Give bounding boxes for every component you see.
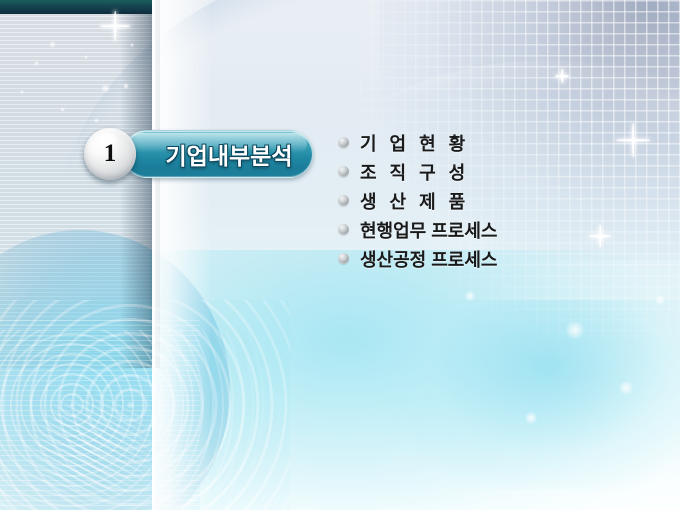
section-title-text: 기업내부분석 (124, 131, 312, 177)
list-item-label: 생산공정 프로세스 (360, 246, 497, 272)
turbine-swirl-decoration (0, 300, 290, 510)
list-item[interactable]: 생 산 제 품 (338, 186, 638, 215)
list-item[interactable]: 조 직 구 성 (338, 157, 638, 186)
bullet-sphere-icon (338, 195, 349, 206)
dark-blue-panel (0, 0, 152, 368)
list-item[interactable]: 현행업무 프로세스 (338, 215, 638, 244)
cable-coil-decoration (21, 385, 158, 510)
top-teal-strip (0, 0, 152, 14)
list-item[interactable]: 생산공정 프로세스 (338, 244, 638, 273)
light-dot-decoration (619, 381, 633, 395)
vertical-light-band-edge (152, 0, 155, 510)
vertical-light-band (152, 0, 210, 510)
light-dot-decoration (49, 41, 56, 48)
sparkle-core (560, 74, 565, 79)
cyan-glow-secondary-decoration (380, 300, 680, 490)
presentation-slide: 기업내부분석 1 기 업 현 황조 직 구 성생 산 제 품현행업무 프로세스생… (0, 0, 680, 510)
light-dot-decoration (34, 61, 39, 66)
streak-lines-decoration (0, 320, 200, 510)
scanline-overlay-decoration (0, 0, 152, 368)
light-dot-decoration (60, 107, 65, 112)
light-dot-decoration (101, 84, 110, 93)
section-title-banner: 기업내부분석 (123, 130, 313, 178)
bullet-sphere-icon (338, 137, 349, 148)
light-dot-decoration (525, 412, 537, 424)
list-item-label: 기 업 현 황 (360, 130, 469, 156)
light-dot-decoration (20, 90, 24, 94)
cyan-glow-decoration (150, 250, 680, 510)
light-dot-decoration (130, 43, 134, 47)
bullet-sphere-icon (338, 253, 349, 264)
list-item-label: 조 직 구 성 (360, 159, 469, 185)
dark-panel-edge-shade (120, 0, 160, 368)
sparkle-core (113, 24, 118, 29)
step-number-text: 1 (84, 128, 136, 180)
light-dot-decoration (465, 291, 475, 301)
turbine-swirl-inner-decoration (0, 330, 270, 510)
light-dot-decoration (566, 321, 584, 339)
light-dot-decoration (84, 55, 88, 59)
light-dot-decoration (655, 295, 665, 305)
dark-panel-glow-decoration (0, 230, 230, 510)
bullet-sphere-icon (338, 166, 349, 177)
light-dot-decoration (94, 118, 99, 123)
light-dot-decoration (123, 83, 129, 89)
bullet-sphere-icon (338, 224, 349, 235)
list-item-label: 현행업무 프로세스 (360, 217, 497, 243)
list-item[interactable]: 기 업 현 황 (338, 128, 638, 157)
step-number-badge: 1 (84, 128, 136, 180)
agenda-bullet-list: 기 업 현 황조 직 구 성생 산 제 품현행업무 프로세스생산공정 프로세스 (338, 128, 638, 273)
sparkle-icon (100, 11, 130, 41)
sparkle-icon (555, 69, 569, 83)
list-item-label: 생 산 제 품 (360, 188, 469, 214)
